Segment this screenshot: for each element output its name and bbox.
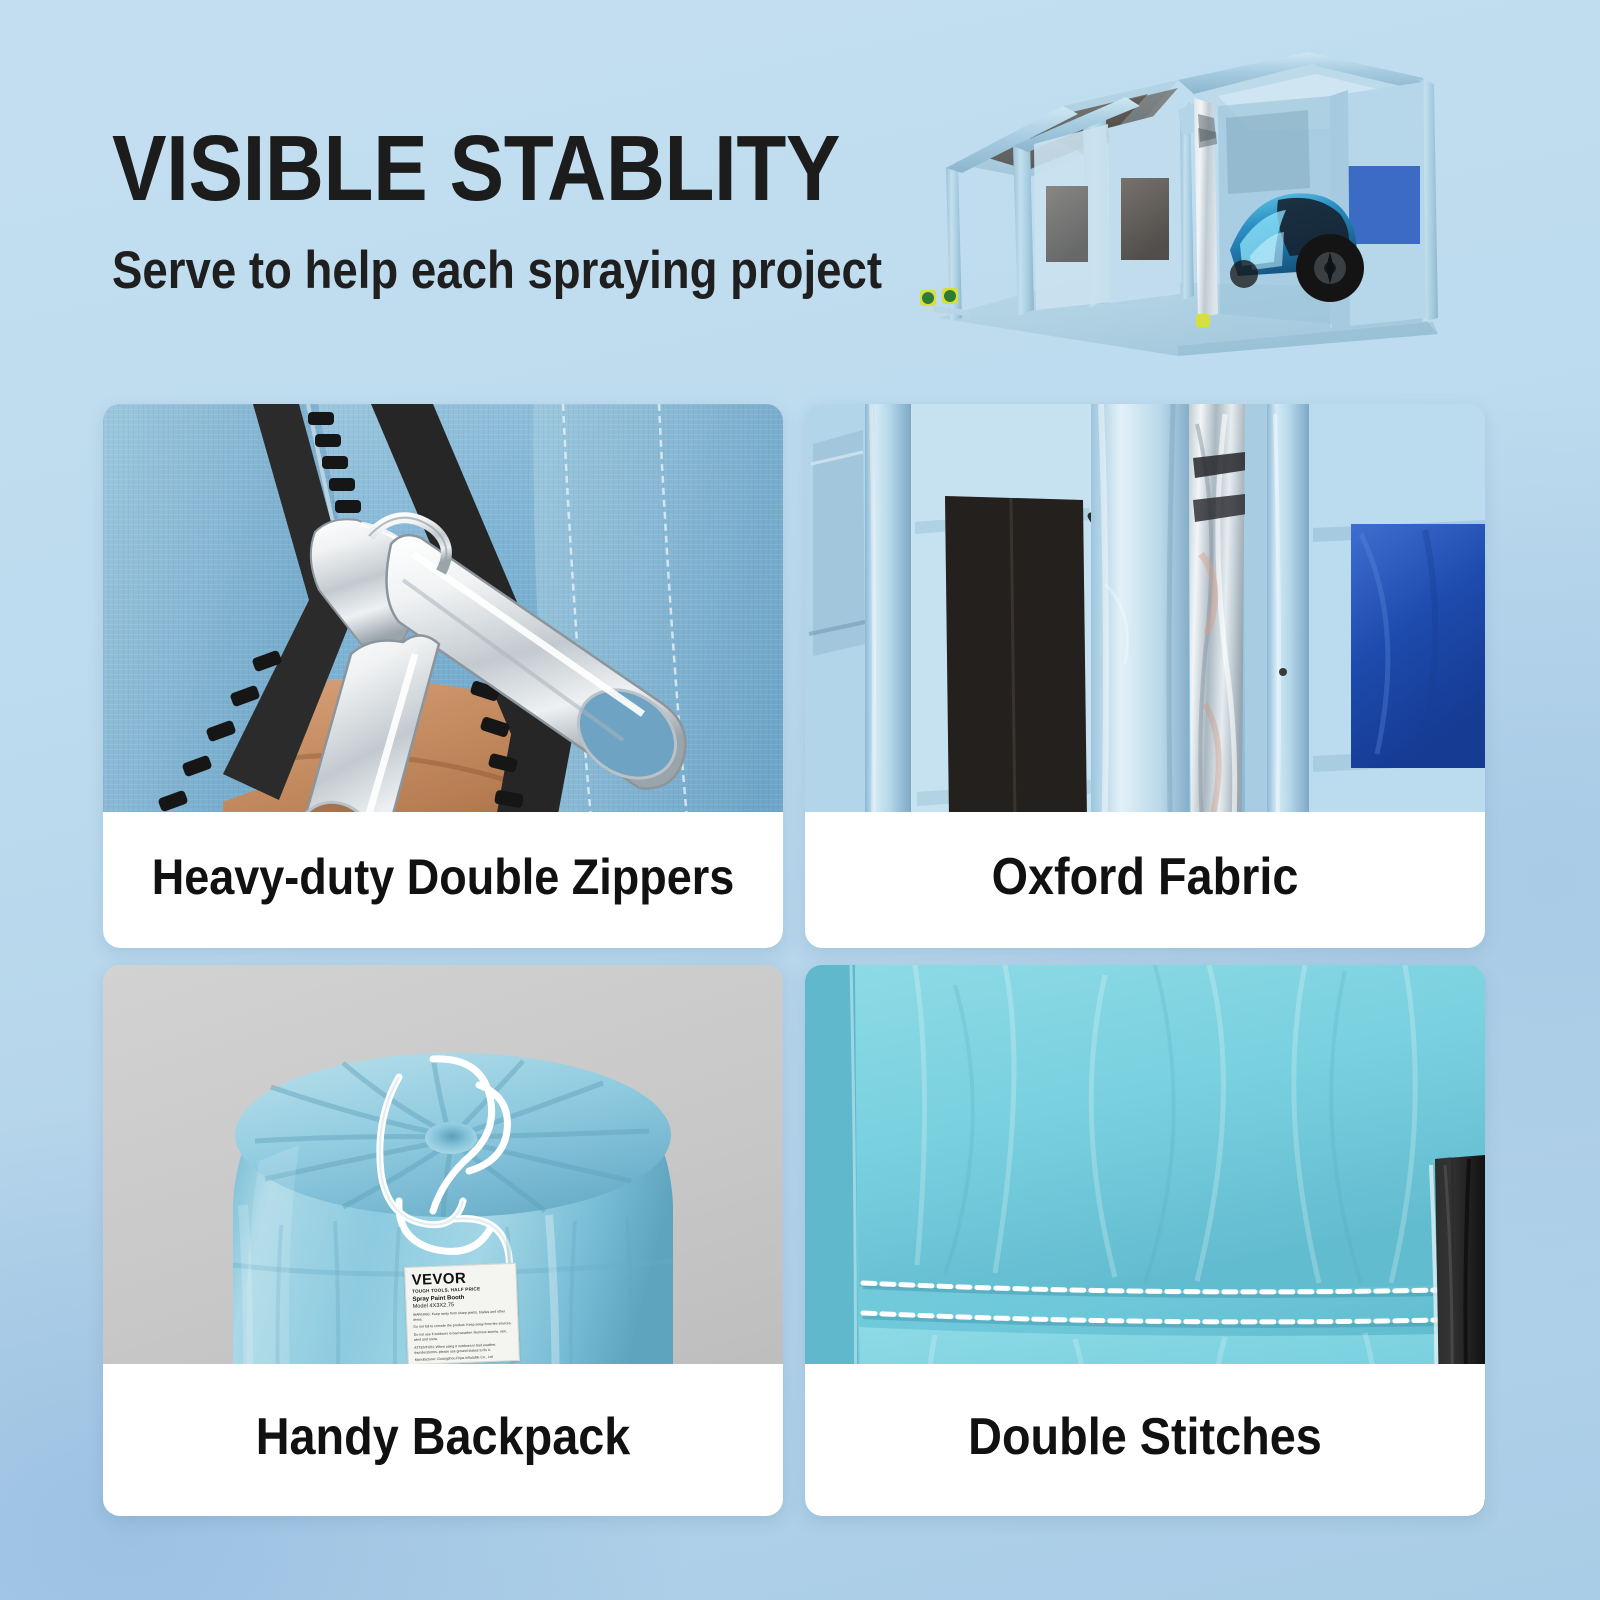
vevor-warning-1: WARNING: Keep away from sharp points, bl… xyxy=(413,1309,512,1323)
caption-label: Handy Backpack xyxy=(137,1407,749,1473)
caption-band: Double Stitches xyxy=(805,1364,1485,1516)
feature-card-zippers[interactable]: Heavy-duty Double Zippers xyxy=(103,404,783,948)
cinch-center xyxy=(425,1122,477,1154)
caption-band: Oxford Fabric xyxy=(805,812,1485,948)
feature-card-grid: Heavy-duty Double Zippers xyxy=(103,404,1485,1516)
caption-label: Double Stitches xyxy=(839,1407,1451,1473)
vevor-attention: ATTENTION: When using it outdoors in bad… xyxy=(414,1342,513,1356)
feature-card-oxford-fabric[interactable]: Oxford Fabric xyxy=(805,404,1485,948)
caption-label: Oxford Fabric xyxy=(839,847,1451,913)
vevor-warning-3: Do not use if outdoors in bad weather. R… xyxy=(413,1329,512,1343)
header-block: VISIBLE STABLITY Serve to help each spra… xyxy=(112,124,872,297)
caption-band: Heavy-duty Double Zippers xyxy=(103,812,783,948)
hero-product-image xyxy=(878,18,1458,393)
page-subtitle: Serve to help each spraying project xyxy=(112,244,766,297)
page-title: VISIBLE STABLITY xyxy=(112,124,781,212)
feature-card-double-stitches[interactable]: Double Stitches xyxy=(805,965,1485,1516)
booth-door-zipper-column xyxy=(1194,98,1218,318)
upper-fabric-panel xyxy=(855,965,1485,1291)
vevor-product-label: VEVOR TOUGH TOOLS, HALF PRICE Spray Pain… xyxy=(404,1263,520,1365)
booth-side-wall xyxy=(1034,110,1180,310)
caption-label: Heavy-duty Double Zippers xyxy=(137,848,749,912)
caption-band: Handy Backpack xyxy=(103,1364,783,1516)
feature-card-handy-backpack[interactable]: VEVOR TOUGH TOOLS, HALF PRICE Spray Pain… xyxy=(103,965,783,1516)
